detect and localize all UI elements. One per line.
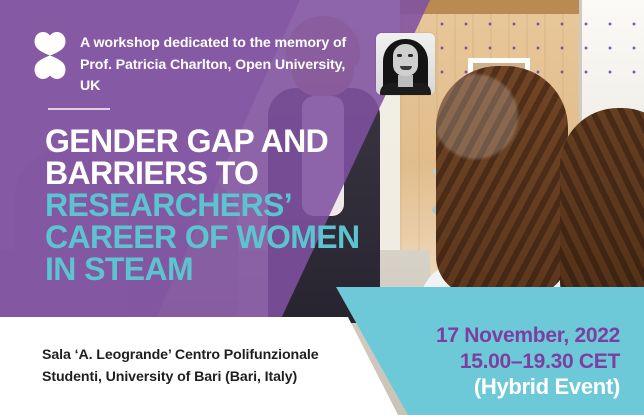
portrait-eye-right [408, 54, 413, 57]
dedication-text: A workshop dedicated to the memory of Pr… [80, 33, 368, 98]
title-line-1: GENDER GAP AND [45, 125, 445, 157]
event-date: 17 November, 2022 [436, 323, 620, 349]
portrait-face [393, 44, 418, 76]
title-line-4: CAREER OF WOMEN [45, 221, 445, 253]
event-mode-badge: (Hybrid Event) [436, 374, 620, 401]
foreground-attendee-head-left [436, 66, 568, 296]
butterfly-x-logo-icon [33, 31, 67, 80]
event-datetime: 17 November, 2022 15.00–19.30 CET (Hybri… [436, 323, 620, 401]
venue-text: Sala ‘A. Leogrande’ Centro Polifunzional… [42, 344, 352, 389]
portrait-eye-left [397, 54, 402, 57]
event-poster: A workshop dedicated to the memory of Pr… [0, 0, 644, 415]
title-line-3: RESEARCHERS’ [45, 189, 445, 221]
title-line-5: IN STEAM [45, 253, 445, 285]
page-title: GENDER GAP AND BARRIERS TO RESEARCHERS’ … [45, 125, 445, 285]
divider-rule [48, 108, 110, 110]
foreground-attendee-head-right [560, 108, 644, 318]
purple-dot-pattern [430, 12, 640, 82]
event-time: 15.00–19.30 CET [436, 349, 620, 375]
title-line-2: BARRIERS TO [45, 157, 445, 189]
portrait-neck [398, 75, 413, 87]
avatar [376, 33, 435, 95]
